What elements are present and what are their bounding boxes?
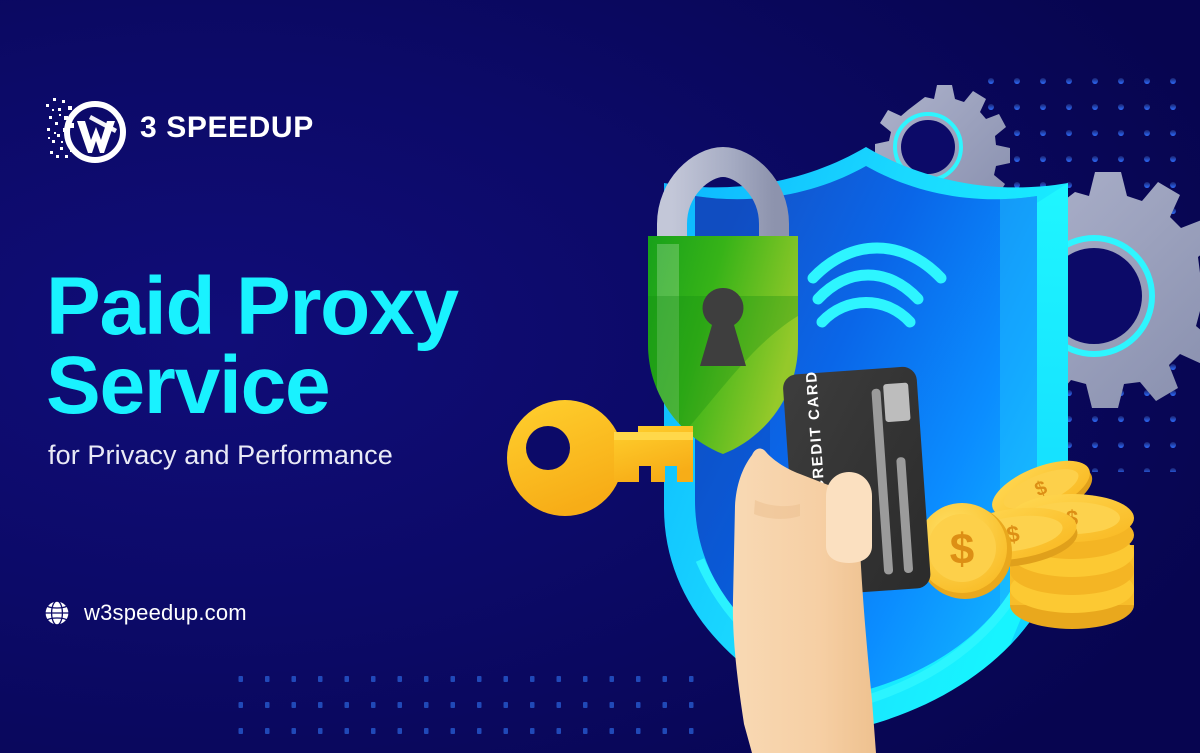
promo-banner: $ $ $ [0,0,1200,753]
svg-text:$: $ [950,525,974,574]
hand-holding-card [733,448,876,753]
w3-circular-logo-icon [44,92,130,166]
website-url: w3speedup.com [84,600,247,626]
website-link[interactable]: w3speedup.com [44,600,247,626]
page-subtitle: for Privacy and Performance [48,440,393,471]
brand-name: 3 SPEEDUP [140,113,314,145]
page-title: Paid Proxy Service [46,268,458,425]
brand-logo[interactable]: 3 SPEEDUP [44,92,314,166]
globe-icon [44,600,70,626]
